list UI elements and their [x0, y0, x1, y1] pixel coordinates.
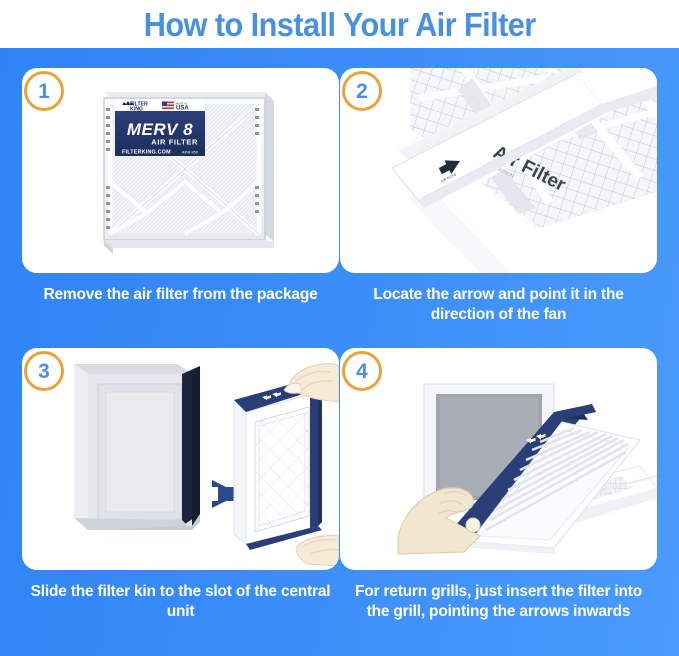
svg-text:MERV 8: MERV 8: [127, 120, 193, 139]
step-1-illustration: FILTER KING MADE IN U: [22, 68, 339, 273]
step-1-badge: 1: [24, 71, 64, 111]
title-band: How to Install Your Air Filter: [0, 0, 679, 48]
step-2: AIR FLOW Air Filter DIRECTION: [340, 68, 657, 326]
step-4-illustration: [340, 348, 657, 570]
step-2-number: 2: [356, 81, 368, 102]
step-1: FILTER KING MADE IN U: [22, 68, 339, 305]
step-3-illustration: [22, 348, 339, 570]
page-title: How to Install Your Air Filter: [144, 8, 536, 41]
infographic-root: How to Install Your Air Filter: [0, 0, 679, 656]
step-4: 4 For return grills, just insert the fil…: [340, 348, 657, 623]
svg-text:AIR FILTER: AIR FILTER: [151, 138, 198, 147]
svg-text:APR 650: APR 650: [182, 150, 199, 155]
step-1-number: 1: [38, 81, 50, 102]
step-3-card: 3: [22, 348, 339, 570]
svg-text:FILTERKING.COM: FILTERKING.COM: [122, 150, 171, 156]
hand-inserting: [398, 488, 480, 554]
hand-bottom: [296, 536, 339, 567]
step-4-caption: For return grills, just insert the filte…: [340, 582, 657, 623]
step-3: 3 Slide the filter kin to the slot of th…: [22, 348, 339, 623]
step-2-card: AIR FLOW Air Filter DIRECTION: [340, 68, 657, 273]
step-2-caption: Locate the arrow and point it in the dir…: [340, 285, 657, 326]
step-2-badge: 2: [342, 71, 382, 111]
step-3-badge: 3: [24, 351, 64, 391]
step-4-badge: 4: [342, 351, 382, 391]
step-3-caption: Slide the filter kin to the slot of the …: [22, 582, 339, 623]
steps-grid: FILTER KING MADE IN U: [0, 48, 679, 656]
step-4-number: 4: [356, 361, 368, 382]
step-2-illustration: AIR FLOW Air Filter DIRECTION: [340, 68, 657, 273]
svg-text:USA: USA: [176, 105, 189, 111]
svg-text:KING: KING: [130, 106, 143, 112]
blue-background: FILTER KING MADE IN U: [0, 48, 679, 656]
step-1-caption: Remove the air filter from the package: [22, 285, 339, 305]
step-1-card: FILTER KING MADE IN U: [22, 68, 339, 273]
step-4-card: 4: [340, 348, 657, 570]
step-3-number: 3: [38, 361, 50, 382]
